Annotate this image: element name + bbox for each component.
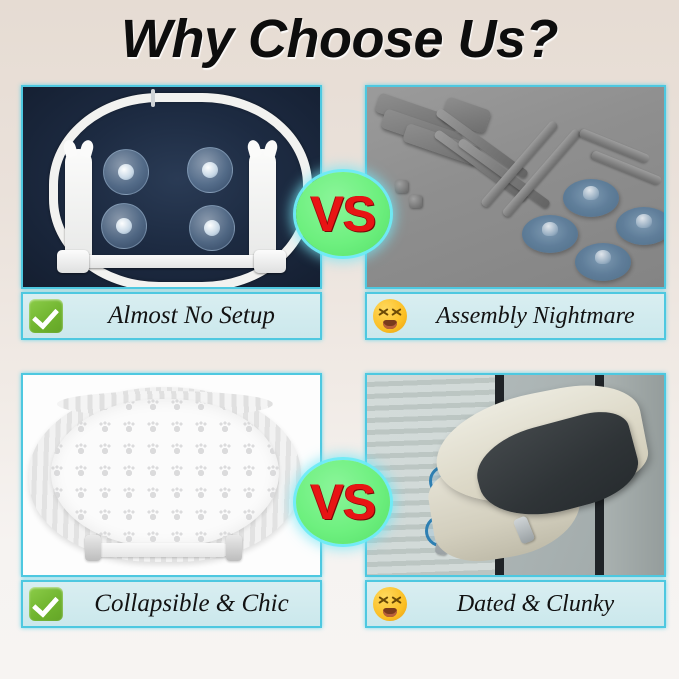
comparison-card-con-assembly: Assembly Nightmare bbox=[365, 85, 666, 340]
card-label-bar: Almost No Setup bbox=[21, 292, 322, 340]
card-label-bar: Assembly Nightmare bbox=[365, 292, 666, 340]
suction-cup bbox=[103, 149, 149, 195]
weary-face-icon bbox=[373, 299, 407, 333]
comparison-card-pro-collapsible: Collapsible & Chic bbox=[21, 373, 322, 628]
cat-bracket-right bbox=[249, 149, 276, 261]
comparison-grid: Almost No Setup Assemb bbox=[0, 85, 679, 645]
cat-bracket-left bbox=[65, 149, 92, 261]
nut-hardware bbox=[395, 180, 408, 193]
suction-cup bbox=[189, 205, 235, 251]
support-bar bbox=[69, 255, 277, 268]
product-photo-window-perch-frame bbox=[21, 85, 322, 289]
frame-joint bbox=[151, 89, 155, 107]
weary-face-icon bbox=[373, 587, 407, 621]
card-label-text: Dated & Clunky bbox=[411, 589, 664, 619]
suction-cup bbox=[187, 147, 233, 193]
bed-cushion bbox=[51, 399, 279, 547]
frame-foot-right bbox=[254, 250, 286, 273]
suction-cup bbox=[563, 179, 619, 217]
suction-cup bbox=[101, 203, 147, 249]
vs-badge-bottom: VS bbox=[296, 460, 390, 544]
card-label-bar: Collapsible & Chic bbox=[21, 580, 322, 628]
suction-cup bbox=[575, 243, 631, 281]
comparison-card-pro-setup: Almost No Setup bbox=[21, 85, 322, 340]
product-photo-disassembled-parts bbox=[365, 85, 666, 289]
vs-badge-label: VS bbox=[311, 189, 376, 239]
product-photo-ruffled-cat-bed bbox=[21, 373, 322, 577]
suction-cup bbox=[616, 207, 666, 245]
card-label-text: Almost No Setup bbox=[67, 301, 320, 331]
product-photo-old-window-hammock bbox=[365, 373, 666, 577]
card-label-text: Collapsible & Chic bbox=[67, 589, 320, 619]
frame-foot-left bbox=[57, 250, 89, 273]
page-title: Why Choose Us? bbox=[0, 8, 679, 70]
green-check-icon bbox=[29, 299, 63, 333]
nut-hardware bbox=[409, 195, 422, 208]
green-check-icon bbox=[29, 587, 63, 621]
paw-print-pattern bbox=[51, 399, 279, 547]
bed-clip-left bbox=[85, 535, 101, 561]
bed-clip-right bbox=[226, 535, 242, 561]
card-label-bar: Dated & Clunky bbox=[365, 580, 666, 628]
comparison-card-con-dated: Dated & Clunky bbox=[365, 373, 666, 628]
support-bar bbox=[91, 543, 229, 557]
vs-badge-label: VS bbox=[311, 477, 376, 527]
vs-badge-top: VS bbox=[296, 172, 390, 256]
card-label-text: Assembly Nightmare bbox=[411, 301, 664, 331]
suction-cup bbox=[522, 215, 578, 253]
